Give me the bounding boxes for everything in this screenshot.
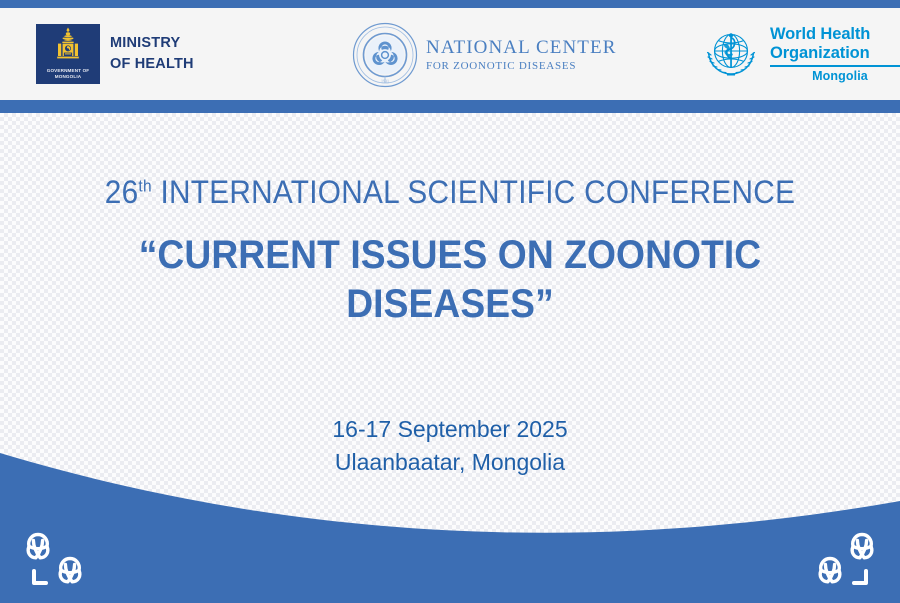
national-center-title: NATIONAL CENTER bbox=[426, 38, 616, 57]
ministry-name: MINISTRY OF HEALTH bbox=[110, 33, 194, 75]
wave-divider-shape bbox=[0, 453, 900, 603]
who-name-line2: Organization bbox=[770, 44, 900, 62]
who-globe-asclepius-icon bbox=[700, 24, 762, 84]
logo-header-band: GOVERNMENT OF MONGOLIA MINISTRY OF HEALT… bbox=[0, 8, 900, 100]
who-country-label: Mongolia bbox=[770, 69, 900, 83]
ministry-name-line2: OF HEALTH bbox=[110, 54, 194, 75]
headline-block: 26th INTERNATIONAL SCIENTIFIC CONFERENCE… bbox=[0, 175, 900, 328]
conference-theme-line1: “CURRENT ISSUES ON ZOONOTIC bbox=[32, 231, 869, 280]
who-divider-rule bbox=[770, 65, 900, 67]
conference-ordinal: th bbox=[138, 176, 151, 195]
conference-title-slide: GOVERNMENT OF MONGOLIA MINISTRY OF HEALT… bbox=[0, 0, 900, 603]
mongolian-knot-ornament-icon bbox=[804, 525, 886, 591]
mongolian-knot-ornament-icon bbox=[14, 525, 96, 591]
biohazard-seal-icon: 1931 bbox=[352, 22, 418, 88]
conference-heading-text: INTERNATIONAL SCIENTIFIC CONFERENCE bbox=[152, 174, 795, 210]
who-name-line1: World Health bbox=[770, 25, 900, 43]
conference-heading: 26th INTERNATIONAL SCIENTIFIC CONFERENCE bbox=[32, 175, 869, 211]
ministry-of-health-logo: GOVERNMENT OF MONGOLIA MINISTRY OF HEALT… bbox=[36, 24, 194, 84]
conference-theme-line2: DISEASES” bbox=[32, 280, 869, 329]
ministry-emblem-caption: GOVERNMENT OF MONGOLIA bbox=[36, 68, 100, 81]
who-name-block: World Health Organization Mongolia bbox=[770, 25, 900, 83]
top-accent-bar bbox=[0, 0, 900, 8]
mongolia-soyombo-icon: GOVERNMENT OF MONGOLIA bbox=[36, 24, 100, 84]
svg-text:1931: 1931 bbox=[381, 79, 389, 84]
header-divider-bar bbox=[0, 100, 900, 113]
ministry-name-line1: MINISTRY bbox=[110, 33, 194, 54]
event-date: 16-17 September 2025 bbox=[0, 413, 900, 446]
national-center-subtitle: FOR ZOONOTIC DISEASES bbox=[426, 61, 616, 72]
national-center-name: NATIONAL CENTER FOR ZOONOTIC DISEASES bbox=[426, 38, 616, 72]
national-center-logo: 1931 NATIONAL CENTER FOR ZOONOTIC DISEAS… bbox=[352, 22, 616, 88]
conference-number: 26 bbox=[105, 174, 139, 210]
conference-theme: “CURRENT ISSUES ON ZOONOTIC DISEASES” bbox=[32, 231, 869, 329]
who-logo: World Health Organization Mongolia bbox=[700, 24, 900, 84]
